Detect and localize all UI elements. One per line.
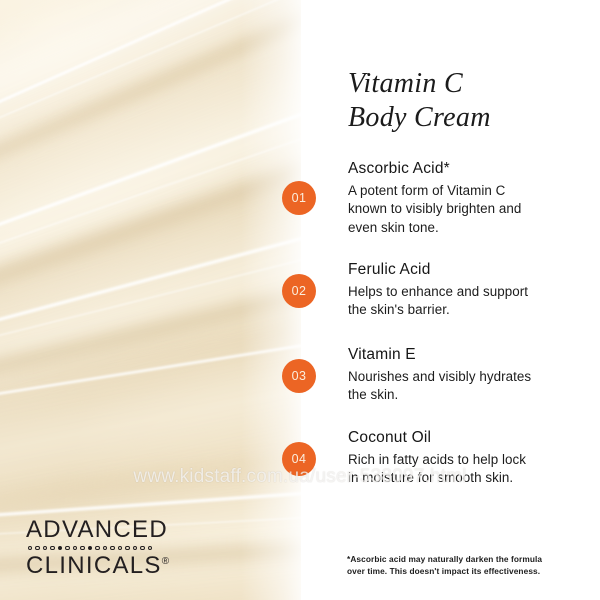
ingredient-item-vitamin-e: Vitamin E Nourishes and visibly hydrates… xyxy=(348,346,593,405)
ingredient-badge-02: 02 xyxy=(282,274,316,308)
logo-dot-hollow xyxy=(118,546,122,550)
footnote-disclaimer: *Ascorbic acid may naturally darken the … xyxy=(347,553,577,578)
logo-dot-hollow xyxy=(140,546,144,550)
logo-dot-hollow xyxy=(80,546,84,550)
logo-dot-hollow xyxy=(65,546,69,550)
brand-logo-line-2-text: CLINICALS xyxy=(26,552,162,579)
logo-dot-filled xyxy=(88,546,92,550)
logo-dot-hollow xyxy=(28,546,32,550)
ingredient-badge-04: 04 xyxy=(282,442,316,476)
logo-dot-hollow xyxy=(95,546,99,550)
ingredient-name: Coconut Oil xyxy=(348,429,593,448)
logo-dot-hollow xyxy=(148,546,152,550)
logo-dot-hollow xyxy=(50,546,54,550)
ingredient-description: A potent form of Vitamin C known to visi… xyxy=(348,182,593,238)
brand-logo-line-1: ADVANCED xyxy=(26,518,169,542)
ingredient-name: Vitamin E xyxy=(348,346,593,365)
logo-dot-hollow xyxy=(125,546,129,550)
ingredient-badge-01: 01 xyxy=(282,181,316,215)
cream-texture-photo: ADVANCED CLINICALS® xyxy=(0,0,301,600)
brand-logo: ADVANCED CLINICALS® xyxy=(26,518,169,578)
product-title: Vitamin C Body Cream xyxy=(348,67,491,135)
ingredient-description: Nourishes and visibly hydrates the skin. xyxy=(348,368,593,406)
brand-logo-dot-row xyxy=(28,545,169,551)
ingredient-item-ascorbic-acid: Ascorbic Acid* A potent form of Vitamin … xyxy=(348,160,593,238)
ingredient-item-coconut-oil: Coconut Oil Rich in fatty acids to help … xyxy=(348,429,593,488)
logo-dot-filled xyxy=(58,546,62,550)
ingredient-name: Ascorbic Acid* xyxy=(348,160,593,179)
logo-dot-hollow xyxy=(35,546,39,550)
ingredient-badge-03: 03 xyxy=(282,359,316,393)
ingredient-name: Ferulic Acid xyxy=(348,261,593,280)
logo-dot-hollow xyxy=(73,546,77,550)
ingredient-item-ferulic-acid: Ferulic Acid Helps to enhance and suppor… xyxy=(348,261,593,320)
logo-dot-hollow xyxy=(103,546,107,550)
product-infographic: ADVANCED CLINICALS® Vitamin C Body Cream… xyxy=(0,0,600,600)
ingredient-description: Rich in fatty acids to help lock in mois… xyxy=(348,451,593,489)
registered-trademark-mark: ® xyxy=(162,556,169,567)
logo-dot-hollow xyxy=(43,546,47,550)
logo-dot-hollow xyxy=(133,546,137,550)
ingredient-description: Helps to enhance and support the skin's … xyxy=(348,283,593,321)
brand-logo-line-2: CLINICALS® xyxy=(26,554,169,578)
logo-dot-hollow xyxy=(110,546,114,550)
